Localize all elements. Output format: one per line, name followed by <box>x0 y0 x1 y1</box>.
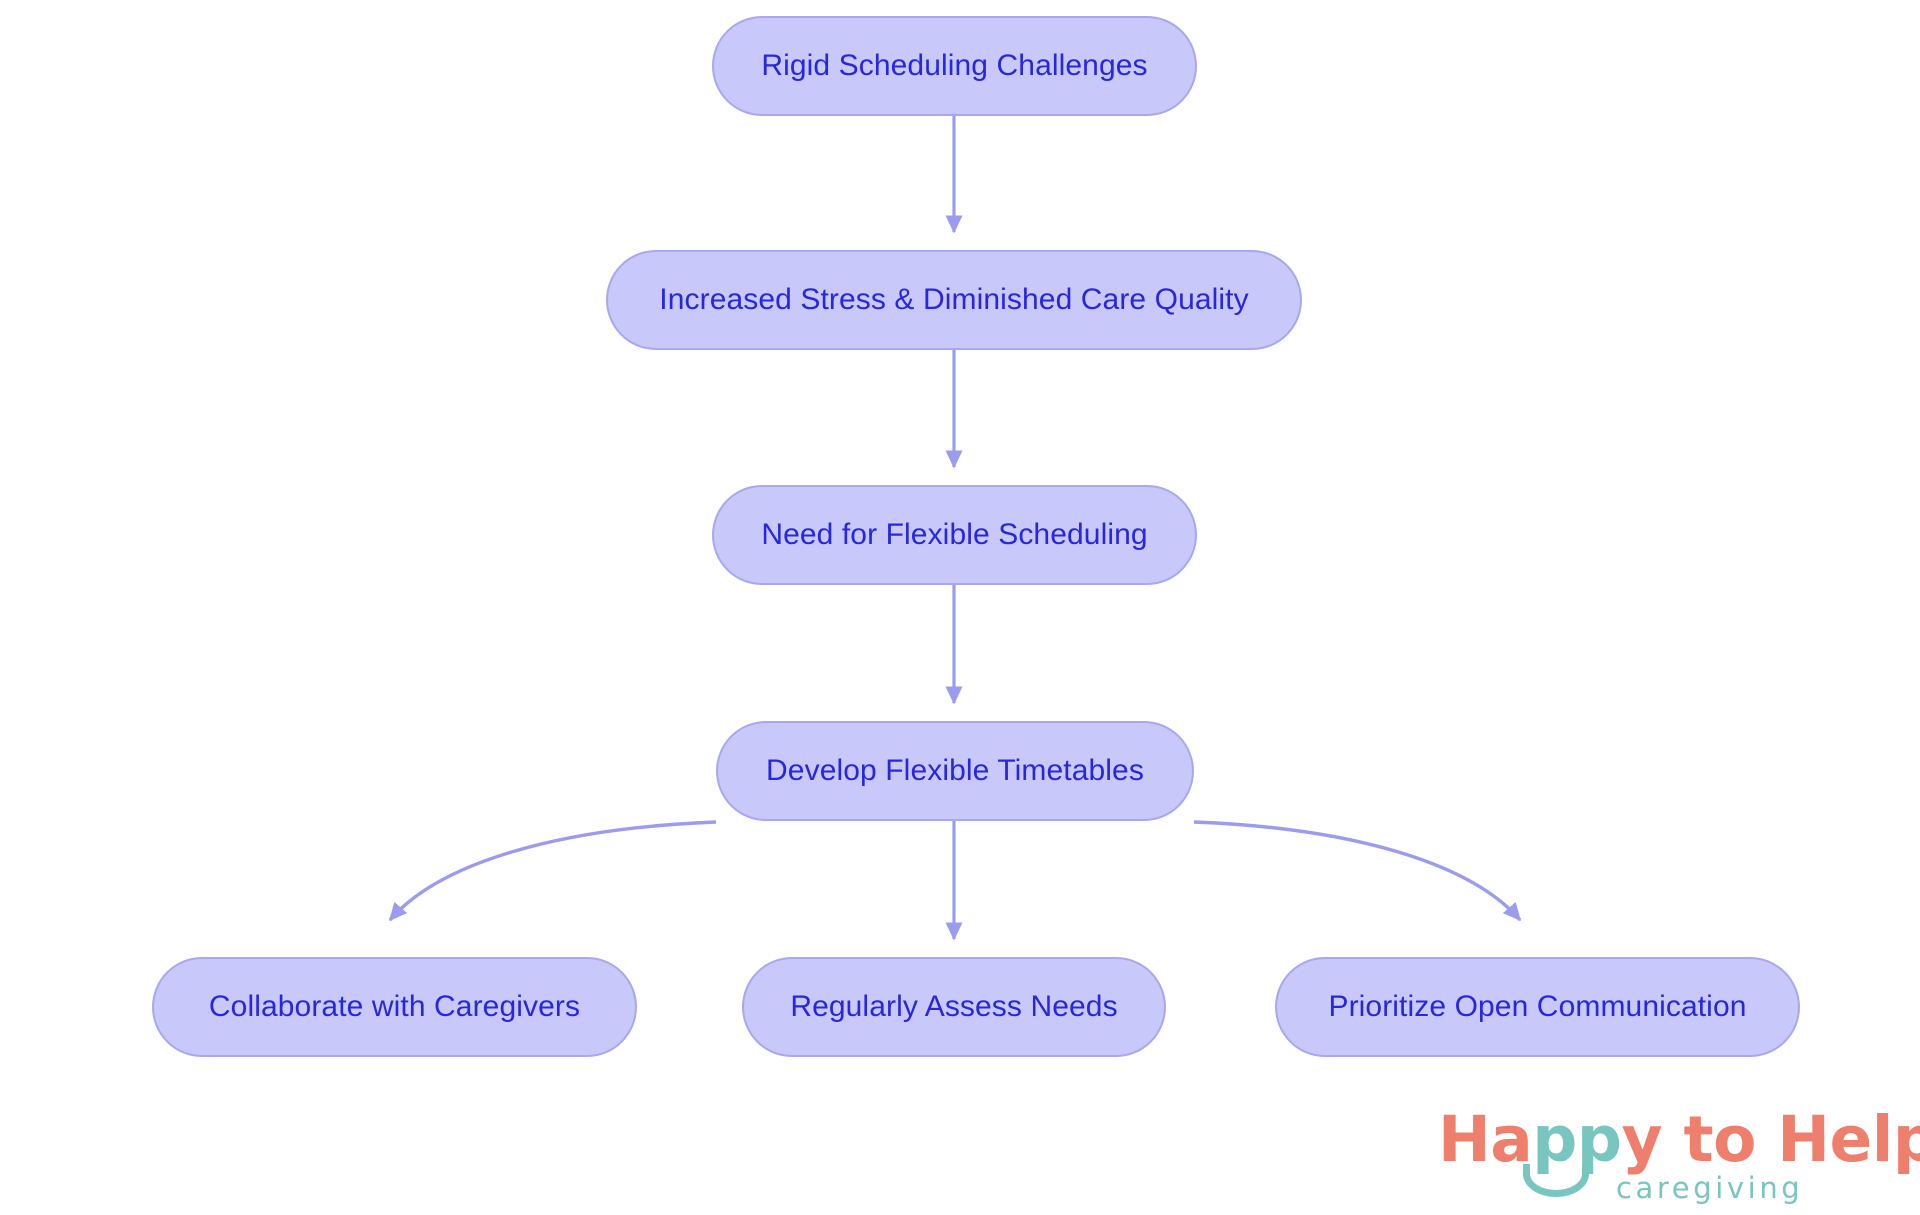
logo-tagline: caregiving <box>1616 1171 1803 1205</box>
flow-node-rigid-scheduling-challenges[interactable]: Rigid Scheduling Challenges <box>712 16 1197 116</box>
flow-node-prioritize-open-communication[interactable]: Prioritize Open Communication <box>1275 957 1800 1057</box>
flow-node-regularly-assess-needs[interactable]: Regularly Assess Needs <box>742 957 1166 1057</box>
smile-icon <box>1523 1164 1589 1197</box>
logo-text-ha: Ha <box>1438 1103 1532 1176</box>
logo-wordmark: Happy to Help <box>1438 1108 1920 1171</box>
flow-node-need-for-flexible-scheduling[interactable]: Need for Flexible Scheduling <box>712 485 1197 585</box>
edge-develop-to-collaborate <box>390 822 716 920</box>
flow-node-develop-flexible-timetables[interactable]: Develop Flexible Timetables <box>716 721 1194 821</box>
edge-develop-to-communication <box>1194 822 1520 920</box>
flow-node-increased-stress-diminished-care-quality[interactable]: Increased Stress & Diminished Care Quali… <box>606 250 1302 350</box>
logo-text-y-to-help: y to Help <box>1621 1103 1920 1176</box>
happy-to-help-logo: Happy to Help caregiving <box>1438 1108 1908 1208</box>
flow-node-collaborate-with-caregivers[interactable]: Collaborate with Caregivers <box>152 957 637 1057</box>
